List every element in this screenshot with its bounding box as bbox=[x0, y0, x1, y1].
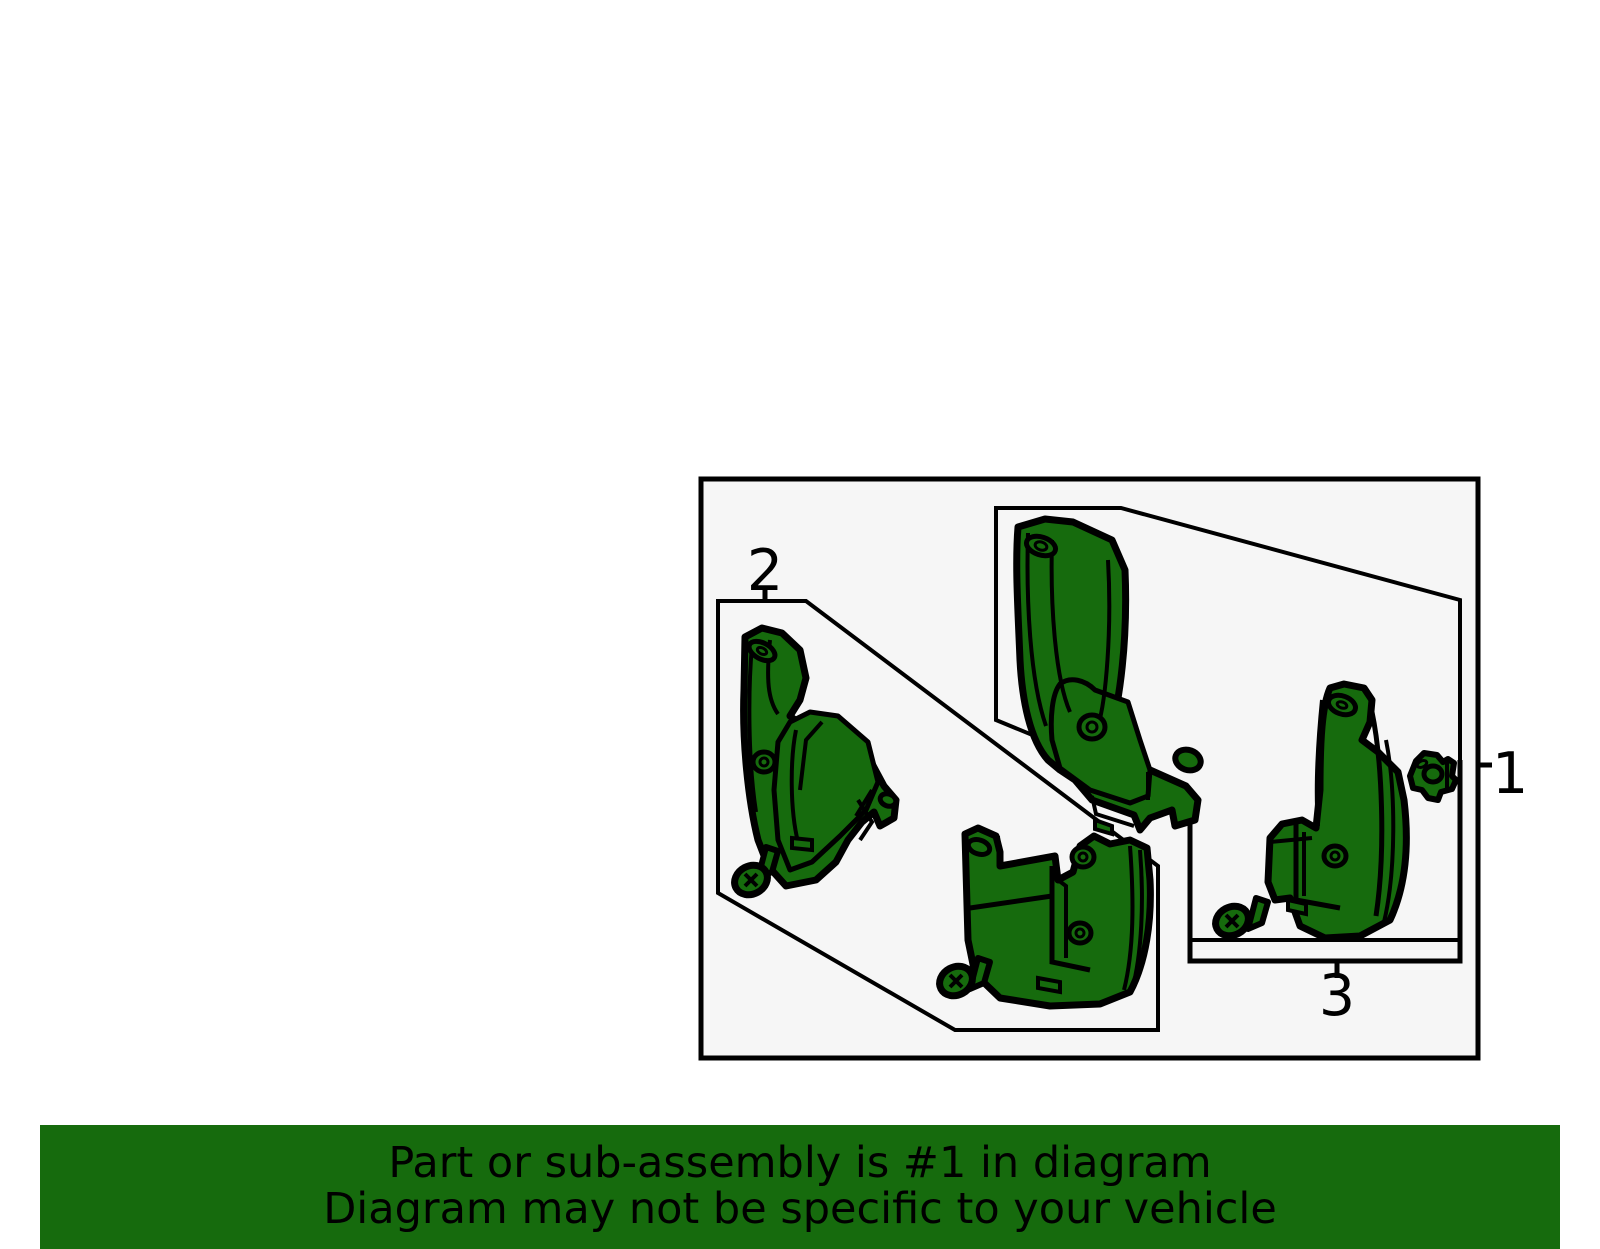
callout-2-label: 2 bbox=[747, 538, 783, 604]
parts-diagram: 1 3 2 bbox=[0, 0, 1600, 1249]
notice-banner-line-1: Part or sub-assembly is #1 in diagram bbox=[388, 1141, 1211, 1187]
callout-1-label: 1 bbox=[1492, 741, 1528, 807]
part-front-right-mud-flap bbox=[965, 828, 1150, 1006]
notice-banner: Part or sub-assembly is #1 in diagram Di… bbox=[40, 1125, 1560, 1249]
callout-3-label: 3 bbox=[1319, 963, 1355, 1029]
notice-banner-line-2: Diagram may not be specific to your vehi… bbox=[323, 1187, 1277, 1233]
screenshot-root: 1 3 2 bbox=[0, 0, 1600, 1249]
